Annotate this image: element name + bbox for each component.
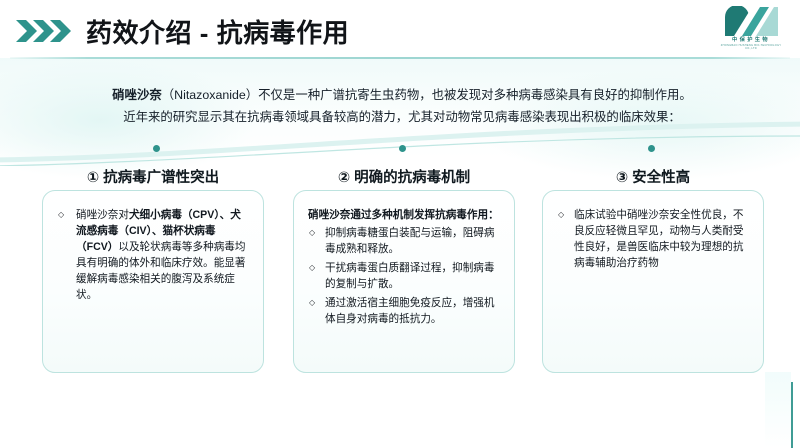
lead-line-1: 硝唑沙奈（Nitazoxanide）不仅是一种广谱抗寄生虫药物，也被发现对多种病… xyxy=(82,84,722,106)
list-item: 硝唑沙奈对犬细小病毒（CPV）、犬流感病毒（CIV）、猫杯状病毒（FCV）以及轮… xyxy=(57,207,248,303)
card-bullets-3: 临床试验中硝唑沙奈安全性优良，不良反应轻微且罕见，动物与人类耐受性良好，是兽医临… xyxy=(557,207,748,271)
list-item-text: 硝唑沙奈对 xyxy=(76,209,129,221)
card-safety: 临床试验中硝唑沙奈安全性优良，不良反应轻微且罕见，动物与人类耐受性良好，是兽医临… xyxy=(542,190,764,373)
slide-header: 药效介绍 - 抗病毒作用 xyxy=(0,0,800,58)
triple-chevron-right-icon xyxy=(16,20,78,42)
header-divider xyxy=(10,57,790,59)
card-heading-1: ① 抗病毒广谱性突出 xyxy=(42,166,264,187)
logo-name-cn: 中保护生物 xyxy=(716,38,786,43)
list-item: 临床试验中硝唑沙奈安全性优良，不良反应轻微且罕见，动物与人类耐受性良好，是兽医临… xyxy=(557,207,748,271)
list-item: 干扰病毒蛋白质翻译过程，抑制病毒的复制与扩散。 xyxy=(308,260,499,292)
connector-dot-3 xyxy=(648,145,655,152)
lead-paragraph: 硝唑沙奈（Nitazoxanide）不仅是一种广谱抗寄生虫药物，也被发现对多种病… xyxy=(82,84,722,128)
card-antiviral-spectrum: 硝唑沙奈对犬细小病毒（CPV）、犬流感病毒（CIV）、猫杯状病毒（FCV）以及轮… xyxy=(42,190,264,373)
card-heading-3: ③ 安全性高 xyxy=(542,166,764,187)
page-title: 药效介绍 - 抗病毒作用 xyxy=(86,13,349,50)
lead-line-2: 近年来的研究显示其在抗病毒领域具备较高的潜力，尤其对动物常见病毒感染表现出积极的… xyxy=(82,106,722,128)
card-intro-2: 硝唑沙奈通过多种机制发挥抗病毒作用： xyxy=(308,207,499,223)
list-item-text: 干扰病毒蛋白质翻译过程，抑制病毒的复制与扩散。 xyxy=(325,262,495,290)
zb-monogram-icon xyxy=(722,6,780,36)
company-logo: 中保护生物 ZHONGBAO HUSHENG BIO-TECHNOLOGY CO… xyxy=(716,6,786,52)
lead-drug-name: 硝唑沙奈 xyxy=(112,88,162,102)
list-item-text: 临床试验中硝唑沙奈安全性优良，不良反应轻微且罕见，动物与人类耐受性良好，是兽医临… xyxy=(574,209,744,269)
card-antiviral-mechanism: 硝唑沙奈通过多种机制发挥抗病毒作用： 抑制病毒糖蛋白装配与运输，阻碍病毒成熟和释… xyxy=(293,190,515,373)
card-bullets-1: 硝唑沙奈对犬细小病毒（CPV）、犬流感病毒（CIV）、猫杯状病毒（FCV）以及轮… xyxy=(57,207,248,303)
accent-bar xyxy=(791,382,793,448)
list-item-text: 通过激活宿主细胞免疫反应，增强机体自身对病毒的抵抗力。 xyxy=(325,297,495,325)
list-item-text: 抑制病毒糖蛋白装配与运输，阻碍病毒成熟和释放。 xyxy=(325,227,495,255)
list-item: 抑制病毒糖蛋白装配与运输，阻碍病毒成熟和释放。 xyxy=(308,225,499,257)
card-bullets-2: 抑制病毒糖蛋白装配与运输，阻碍病毒成熟和释放。干扰病毒蛋白质翻译过程，抑制病毒的… xyxy=(308,225,499,327)
connector-dot-2 xyxy=(399,145,406,152)
logo-name-en: ZHONGBAO HUSHENG BIO-TECHNOLOGY CO.,LTD xyxy=(716,45,786,50)
lead-line-1-rest: （Nitazoxanide）不仅是一种广谱抗寄生虫药物，也被发现对多种病毒感染具… xyxy=(162,88,692,102)
accent-wash xyxy=(765,372,791,448)
slide-root: 药效介绍 - 抗病毒作用 中保护生物 ZHONGBAO HUSHENG BIO-… xyxy=(0,0,800,448)
connector-dot-1 xyxy=(153,145,160,152)
list-item: 通过激活宿主细胞免疫反应，增强机体自身对病毒的抵抗力。 xyxy=(308,295,499,327)
card-heading-2: ② 明确的抗病毒机制 xyxy=(293,166,515,187)
